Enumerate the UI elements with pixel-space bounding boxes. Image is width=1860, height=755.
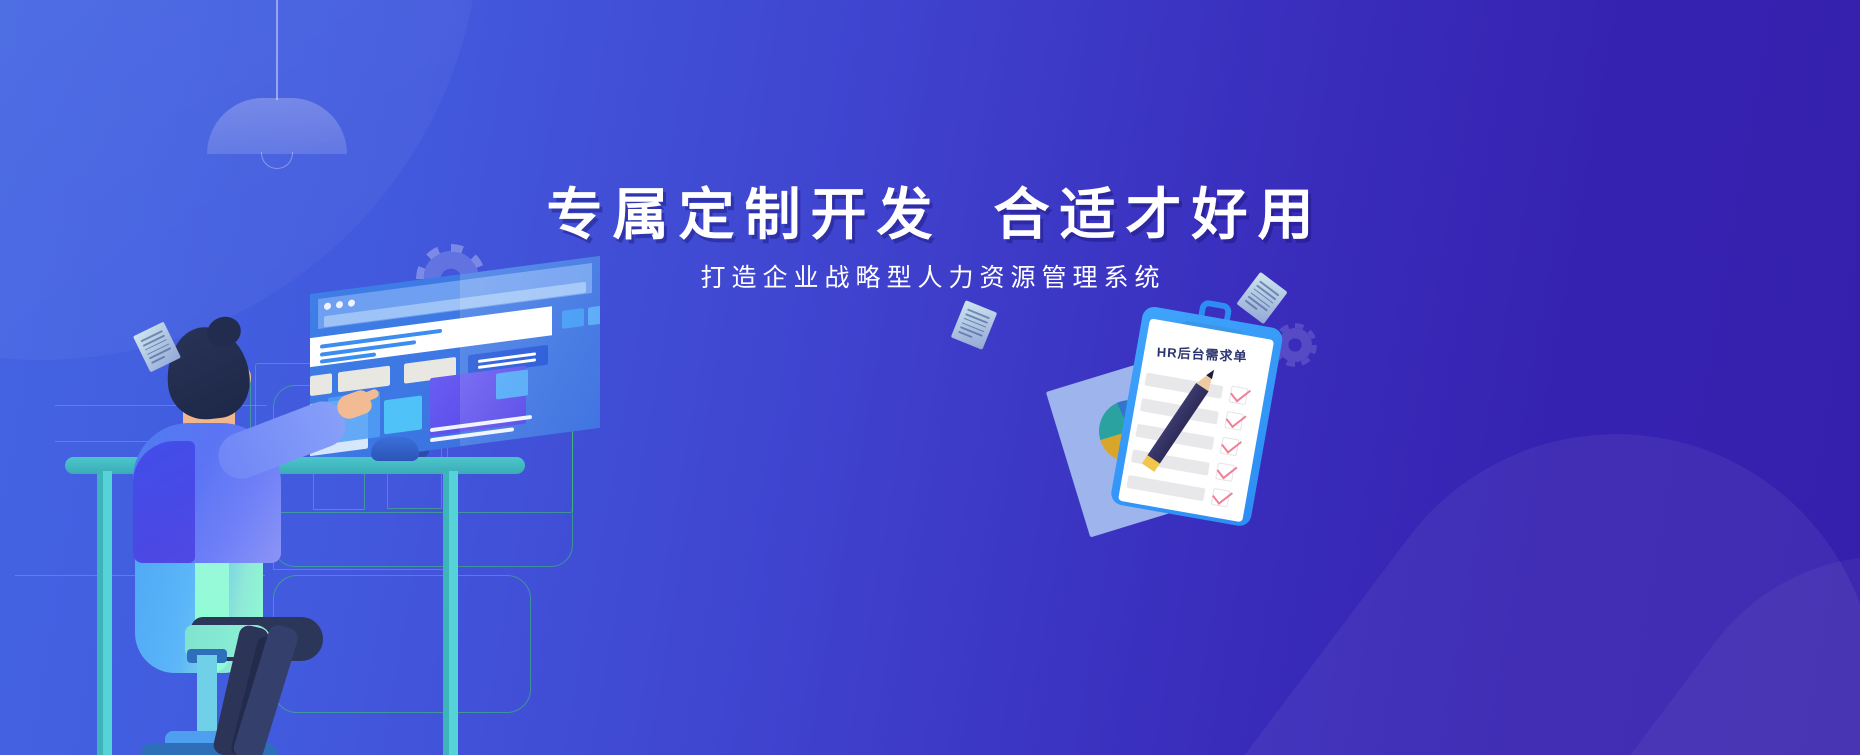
ui-block [338, 366, 390, 393]
promo-banner: 专属定制开发 合适才好用 打造企业战略型人力资源管理系统 [0, 0, 1860, 755]
office-chair-post [197, 655, 217, 733]
clipboard: HR后台需求单 [1109, 291, 1286, 527]
ui-block [310, 373, 332, 396]
desk-leg-highlight [449, 471, 458, 755]
workspace-illustration [55, 245, 585, 755]
hr-checklist-illustration: HR后台需求单 [1055, 280, 1335, 530]
ui-tile [384, 395, 422, 434]
diagonal-hill-shape-secondary [1303, 470, 1860, 755]
screen-glare [460, 256, 600, 446]
document-icon [951, 300, 998, 350]
person-torso-shadow [133, 441, 195, 563]
computer-mouse-icon [371, 437, 419, 461]
banner-headline: 专属定制开发 合适才好用 [0, 182, 1860, 248]
checklist-row [1126, 475, 1205, 501]
desk-leg-highlight [103, 471, 112, 755]
wireframe-outline [313, 470, 365, 510]
clipboard-title: HR后台需求单 [1156, 342, 1248, 366]
